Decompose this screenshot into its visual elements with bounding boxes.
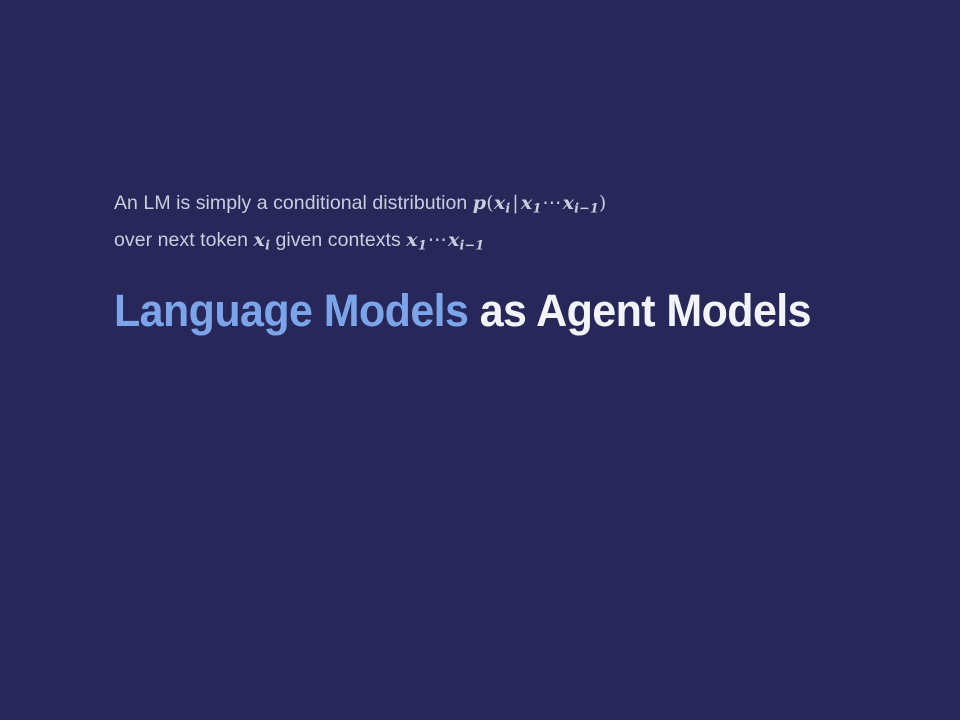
- math-next-token: xi: [254, 229, 270, 251]
- math-conditional-bar: |: [512, 192, 519, 214]
- title-accent-part: Language Models: [114, 285, 468, 336]
- lead-in-line-2-middle: given contexts: [270, 229, 406, 251]
- math-p: p: [473, 192, 487, 214]
- math-x-i: x: [494, 192, 506, 214]
- math-sub-i: i: [505, 202, 510, 217]
- math-ellipsis: ⋯: [541, 192, 562, 214]
- math-paren-close: ): [599, 192, 607, 214]
- lead-in-line-2: over next token xi given contexts x1⋯xi−…: [114, 225, 914, 262]
- math-ctx-x-1: x: [406, 229, 418, 251]
- math-x-i-minus-1: x: [563, 192, 575, 214]
- lead-in-line-1: An LM is simply a conditional distributi…: [114, 188, 914, 225]
- slide-title: Language Models as Agent Models: [114, 285, 878, 337]
- math-conditional-distribution: p(xi|x1⋯xi−1): [473, 192, 607, 214]
- lead-in-text: An LM is simply a conditional distributi…: [114, 188, 914, 261]
- lead-in-line-2-prefix: over next token: [114, 229, 254, 251]
- math-paren-open: (: [486, 192, 494, 214]
- math-x-1: x: [521, 192, 533, 214]
- math-context-sequence: x1⋯xi−1: [406, 229, 484, 251]
- slide: An LM is simply a conditional distributi…: [0, 0, 960, 720]
- math-ctx-sub-i-minus-1: i−1: [460, 238, 485, 253]
- math-sub-i-minus-1: i−1: [574, 202, 599, 217]
- math-ctx-sub-1: 1: [418, 238, 427, 253]
- slide-content-block: An LM is simply a conditional distributi…: [114, 188, 914, 337]
- math-ctx-x-i-minus-1: x: [448, 229, 460, 251]
- math-ctx-ellipsis: ⋯: [427, 229, 448, 251]
- title-plain-part: as Agent Models: [468, 285, 811, 336]
- lead-in-line-1-prefix: An LM is simply a conditional distributi…: [114, 192, 473, 214]
- math-x-i-token: x: [254, 229, 266, 251]
